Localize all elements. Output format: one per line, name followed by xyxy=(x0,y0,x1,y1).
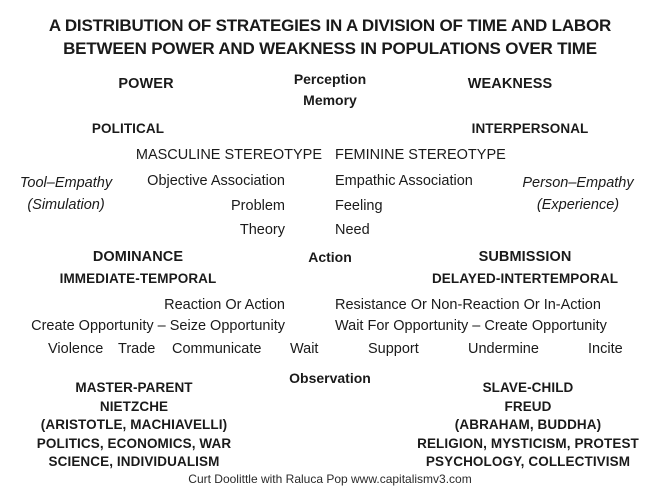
right-time-orientation: DELAYED-INTERTEMPORAL xyxy=(404,271,646,286)
left-archetype-line-1: NIETZCHE xyxy=(8,398,260,417)
title-line-1: A DISTRIBUTION OF STRATEGIES IN A DIVISI… xyxy=(0,14,660,37)
left-archetype-line-4: SCIENCE, INDIVIDUALISM xyxy=(8,453,260,472)
axis-label-memory: Memory xyxy=(245,92,415,108)
left-tactic-0: Violence xyxy=(48,341,103,357)
right-archetype-line-3: RELIGION, MYSTICISM, PROTEST xyxy=(400,435,656,454)
left-archetype-line-2: (ARISTOTLE, MACHIAVELLI) xyxy=(8,416,260,435)
left-time-orientation: IMMEDIATE-TEMPORAL xyxy=(17,271,259,286)
right-stereotype-feminine: FEMININE STEREOTYPE xyxy=(335,147,506,163)
left-tactic-1: Trade xyxy=(118,341,155,357)
left-archetype-line-0: MASTER-PARENT xyxy=(8,379,260,398)
right-pole-weakness: WEAKNESS xyxy=(440,76,580,92)
right-empathy-mode: Person–Empathy (Experience) xyxy=(500,172,656,216)
right-tactic-0: Support xyxy=(368,341,419,357)
right-tactic-2: Incite xyxy=(588,341,623,357)
left-archetype-block: MASTER-PARENT NIETZCHE (ARISTOTLE, MACHI… xyxy=(8,379,260,472)
axis-label-action: Action xyxy=(245,249,415,265)
right-archetype-block: SLAVE-CHILD FREUD (ABRAHAM, BUDDHA) RELI… xyxy=(400,379,656,472)
right-empathy-mode-line-2: (Experience) xyxy=(500,194,656,216)
left-tactic-3: Wait xyxy=(290,341,318,357)
left-domain-political: POLITICAL xyxy=(48,121,208,136)
left-empathy-mode-line-2: (Simulation) xyxy=(4,194,128,216)
axis-label-observation: Observation xyxy=(245,370,415,386)
left-cognition-item-0: Objective Association xyxy=(147,173,285,189)
footer-credit: Curt Doolittle with Raluca Pop www.capit… xyxy=(0,472,660,486)
right-strategy-line-2: Wait For Opportunity – Create Opportunit… xyxy=(335,318,607,334)
left-cognition-item-2: Theory xyxy=(240,222,285,238)
left-archetype-line-3: POLITICS, ECONOMICS, WAR xyxy=(8,435,260,454)
left-cognition-item-1: Problem xyxy=(231,198,285,214)
left-pole-power: POWER xyxy=(76,76,216,92)
page-title: A DISTRIBUTION OF STRATEGIES IN A DIVISI… xyxy=(0,14,660,60)
right-tactic-1: Undermine xyxy=(468,341,539,357)
right-domain-interpersonal: INTERPERSONAL xyxy=(440,121,620,136)
right-cognition-item-2: Need xyxy=(335,222,370,238)
left-strategy-line-1: Reaction Or Action xyxy=(164,297,285,313)
right-archetype-line-2: (ABRAHAM, BUDDHA) xyxy=(400,416,656,435)
diagram-canvas: A DISTRIBUTION OF STRATEGIES IN A DIVISI… xyxy=(0,0,660,493)
right-stance-submission: SUBMISSION xyxy=(430,249,620,265)
right-archetype-line-1: FREUD xyxy=(400,398,656,417)
left-empathy-mode-line-1: Tool–Empathy xyxy=(4,172,128,194)
axis-label-perception: Perception xyxy=(245,71,415,87)
right-cognition-item-1: Feeling xyxy=(335,198,383,214)
left-tactic-2: Communicate xyxy=(172,341,261,357)
title-line-2: BETWEEN POWER AND WEAKNESS IN POPULATION… xyxy=(0,37,660,60)
right-archetype-line-0: SLAVE-CHILD xyxy=(400,379,656,398)
left-empathy-mode: Tool–Empathy (Simulation) xyxy=(4,172,128,216)
right-strategy-line-1: Resistance Or Non-Reaction Or In-Action xyxy=(335,297,601,313)
right-empathy-mode-line-1: Person–Empathy xyxy=(500,172,656,194)
left-stereotype-masculine: MASCULINE STEREOTYPE xyxy=(136,147,322,163)
left-stance-dominance: DOMINANCE xyxy=(48,249,228,265)
right-cognition-item-0: Empathic Association xyxy=(335,173,473,189)
left-strategy-line-2: Create Opportunity – Seize Opportunity xyxy=(31,318,285,334)
right-archetype-line-4: PSYCHOLOGY, COLLECTIVISM xyxy=(400,453,656,472)
